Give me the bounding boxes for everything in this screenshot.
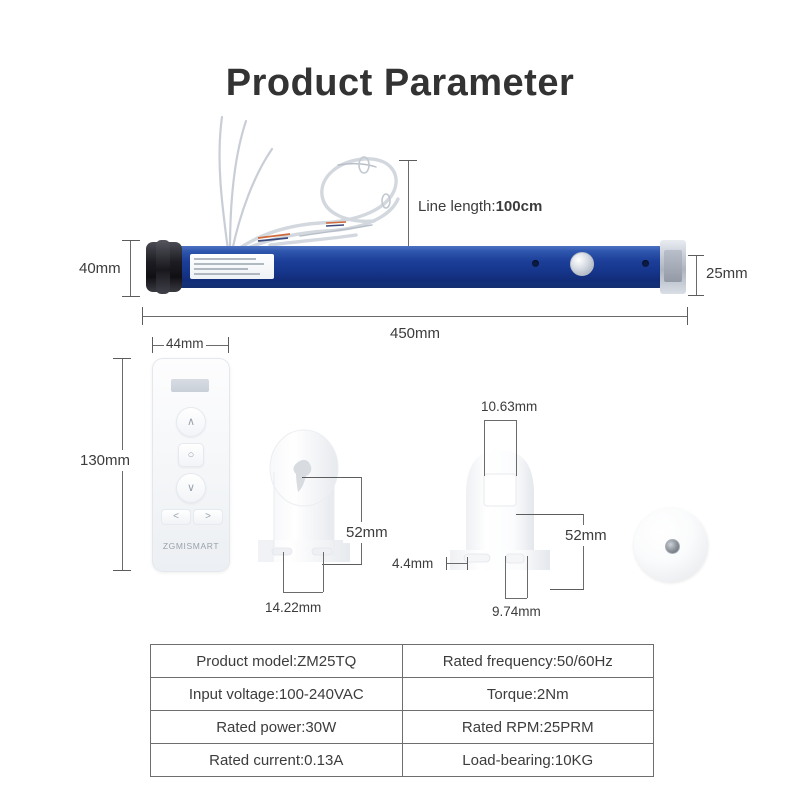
table-row: Input voltage:100-240VAC Torque:2Nm — [151, 678, 654, 711]
round-bracket-height-label: 52mm — [343, 522, 391, 543]
flat-bracket-bottom-dimension-line — [505, 598, 527, 599]
remote-brand-label: ZGMISMART — [153, 541, 229, 551]
flat-bracket-thickness-tick-right — [467, 557, 468, 570]
motor-shaft-tick-bottom — [688, 295, 704, 296]
flat-bracket-thickness-label: 4.4mm — [392, 556, 433, 571]
remote-stop-button[interactable]: ○ — [178, 443, 204, 467]
round-bracket-height-dimension-line — [361, 477, 362, 565]
round-bracket-height-tick-top — [302, 477, 362, 478]
motor-shaft-tick-top — [688, 255, 704, 256]
motor-diameter-tick-bottom — [122, 296, 140, 297]
flat-bracket-height-label: 52mm — [562, 525, 610, 546]
flat-bracket-bottom-tick-right — [527, 556, 528, 598]
table-row: Rated power:30W Rated RPM:25PRM — [151, 711, 654, 744]
remote-width-tick-left — [152, 337, 153, 353]
spec-cell-torque: Torque:2Nm — [402, 678, 654, 711]
spec-cell-load-bearing: Load-bearing:10KG — [402, 744, 654, 777]
round-bracket-slot-label: 14.22mm — [265, 600, 321, 615]
motor-diameter-dimension-line — [130, 240, 131, 296]
motor-shaft-label: 25mm — [706, 265, 748, 282]
flat-bracket-bottom-width-label: 9.74mm — [492, 604, 541, 619]
round-bracket-slot-tick-right — [323, 552, 324, 592]
flat-bracket-thickness-tick-left — [446, 557, 447, 570]
motor-length-tick-right — [687, 307, 688, 325]
remote-left-button[interactable]: < — [161, 509, 191, 525]
spec-cell-input-voltage: Input voltage:100-240VAC — [151, 678, 403, 711]
line-length-prefix: Line length: — [418, 198, 496, 215]
remote-control[interactable]: ∧ ○ ∨ < > ZGMISMART — [152, 358, 230, 572]
specification-table: Product model:ZM25TQ Rated frequency:50/… — [150, 644, 654, 777]
spec-cell-rated-current: Rated current:0.13A — [151, 744, 403, 777]
motor-cap-ring — [156, 240, 170, 294]
end-cap-disc — [634, 508, 708, 582]
end-cap-center-pin — [665, 539, 680, 554]
motor-shaft-dimension-line — [696, 255, 697, 295]
motor-pin-hole-left — [532, 260, 539, 267]
flat-bracket-top-width-label: 10.63mm — [481, 399, 537, 414]
spec-cell-rated-rpm: Rated RPM:25PRM — [402, 711, 654, 744]
remote-display — [171, 379, 209, 392]
flat-bracket-bottom-tick-left — [505, 556, 506, 598]
remote-width-label: 44mm — [164, 336, 206, 351]
motor-length-tick-left — [142, 307, 143, 325]
spec-cell-rated-power: Rated power:30W — [151, 711, 403, 744]
motor-length-label: 450mm — [390, 325, 440, 342]
flat-bracket-illustration — [440, 432, 560, 580]
round-bracket-slot-dimension-line — [283, 592, 323, 593]
spec-cell-rated-frequency: Rated frequency:50/60Hz — [402, 645, 654, 678]
flat-bracket-top-tick-right — [516, 420, 517, 476]
table-row: Rated current:0.13A Load-bearing:10KG — [151, 744, 654, 777]
table-row: Product model:ZM25TQ Rated frequency:50/… — [151, 645, 654, 678]
round-bracket-illustration — [252, 428, 362, 580]
motor-spec-sticker — [190, 254, 274, 279]
page-title: Product Parameter — [0, 62, 800, 105]
remote-height-label: 130mm — [80, 450, 130, 471]
motor-logo-badge — [570, 252, 594, 276]
motor-diameter-label: 40mm — [79, 260, 121, 277]
motor-length-dimension-line — [142, 316, 687, 317]
motor-drive-adapter-collar — [664, 250, 682, 282]
line-length-tick-top — [399, 160, 417, 161]
line-length-label: Line length:100cm — [418, 198, 542, 215]
product-parameter-page: Product Parameter Line length:100cm — [0, 0, 800, 800]
spec-cell-product-model: Product model:ZM25TQ — [151, 645, 403, 678]
round-bracket-height-tick-bottom — [322, 564, 362, 565]
remote-down-button[interactable]: ∨ — [176, 473, 206, 503]
flat-bracket-height-tick-bottom — [550, 589, 584, 590]
remote-height-tick-top — [113, 358, 131, 359]
tubular-motor-illustration — [130, 236, 700, 298]
remote-up-button[interactable]: ∧ — [176, 407, 206, 437]
motor-diameter-tick-top — [122, 240, 140, 241]
flat-bracket-thickness-dimension-line — [446, 563, 468, 564]
round-bracket-slot-tick-left — [283, 552, 284, 592]
motor-wires-illustration — [150, 105, 420, 255]
remote-height-tick-bottom — [113, 570, 131, 571]
remote-right-button[interactable]: > — [193, 509, 223, 525]
line-length-value: 100cm — [496, 198, 543, 215]
flat-bracket-top-width-dimension-line — [484, 420, 516, 421]
flat-bracket-height-tick-top — [516, 514, 584, 515]
motor-pin-hole-right — [642, 260, 649, 267]
flat-bracket-top-tick-left — [484, 420, 485, 476]
remote-width-tick-right — [228, 337, 229, 353]
